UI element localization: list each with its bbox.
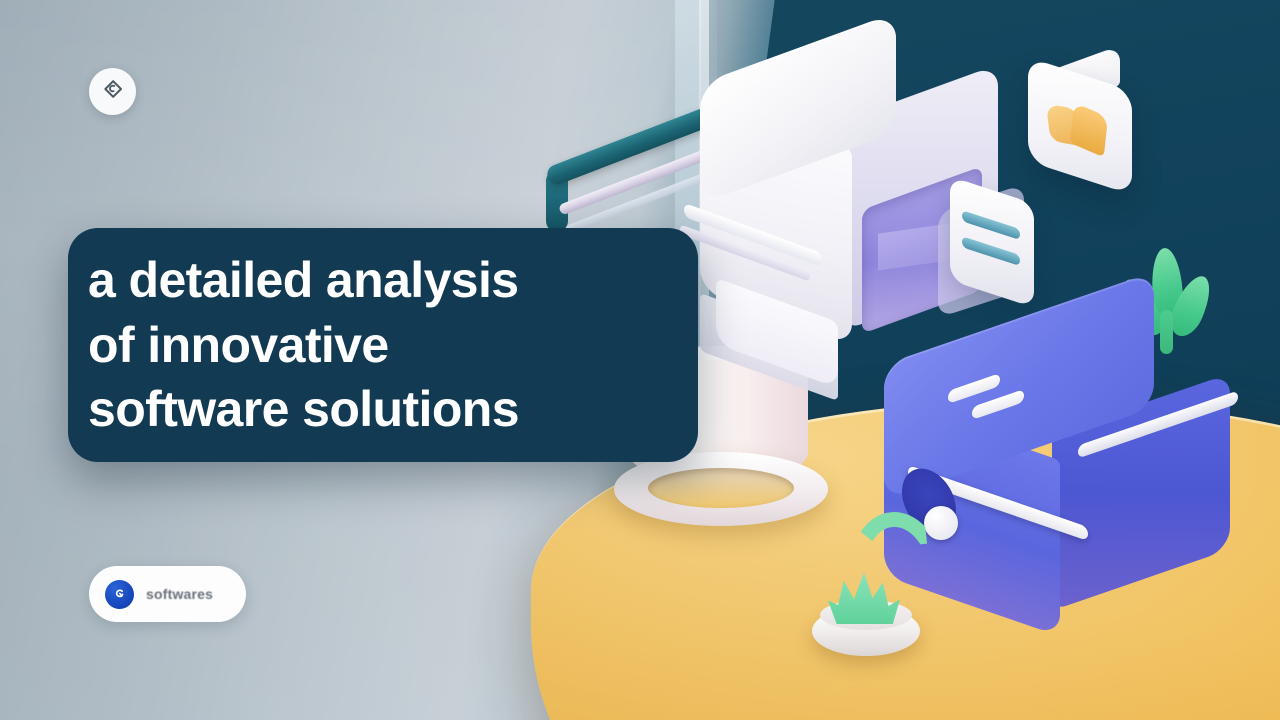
swirl-diamond-icon <box>103 79 123 104</box>
headline-card: a detailed analysis of innovative softwa… <box>68 228 698 462</box>
top-left-logo-badge[interactable] <box>89 68 136 115</box>
page-title: a detailed analysis of innovative softwa… <box>68 248 553 442</box>
swirl-icon <box>105 580 134 609</box>
brand-badge[interactable]: softwares <box>89 566 246 622</box>
brand-wordmark: softwares <box>146 586 213 602</box>
background-light-column-secondary <box>699 0 709 410</box>
banner-stage: a detailed analysis of innovative softwa… <box>0 0 1280 720</box>
